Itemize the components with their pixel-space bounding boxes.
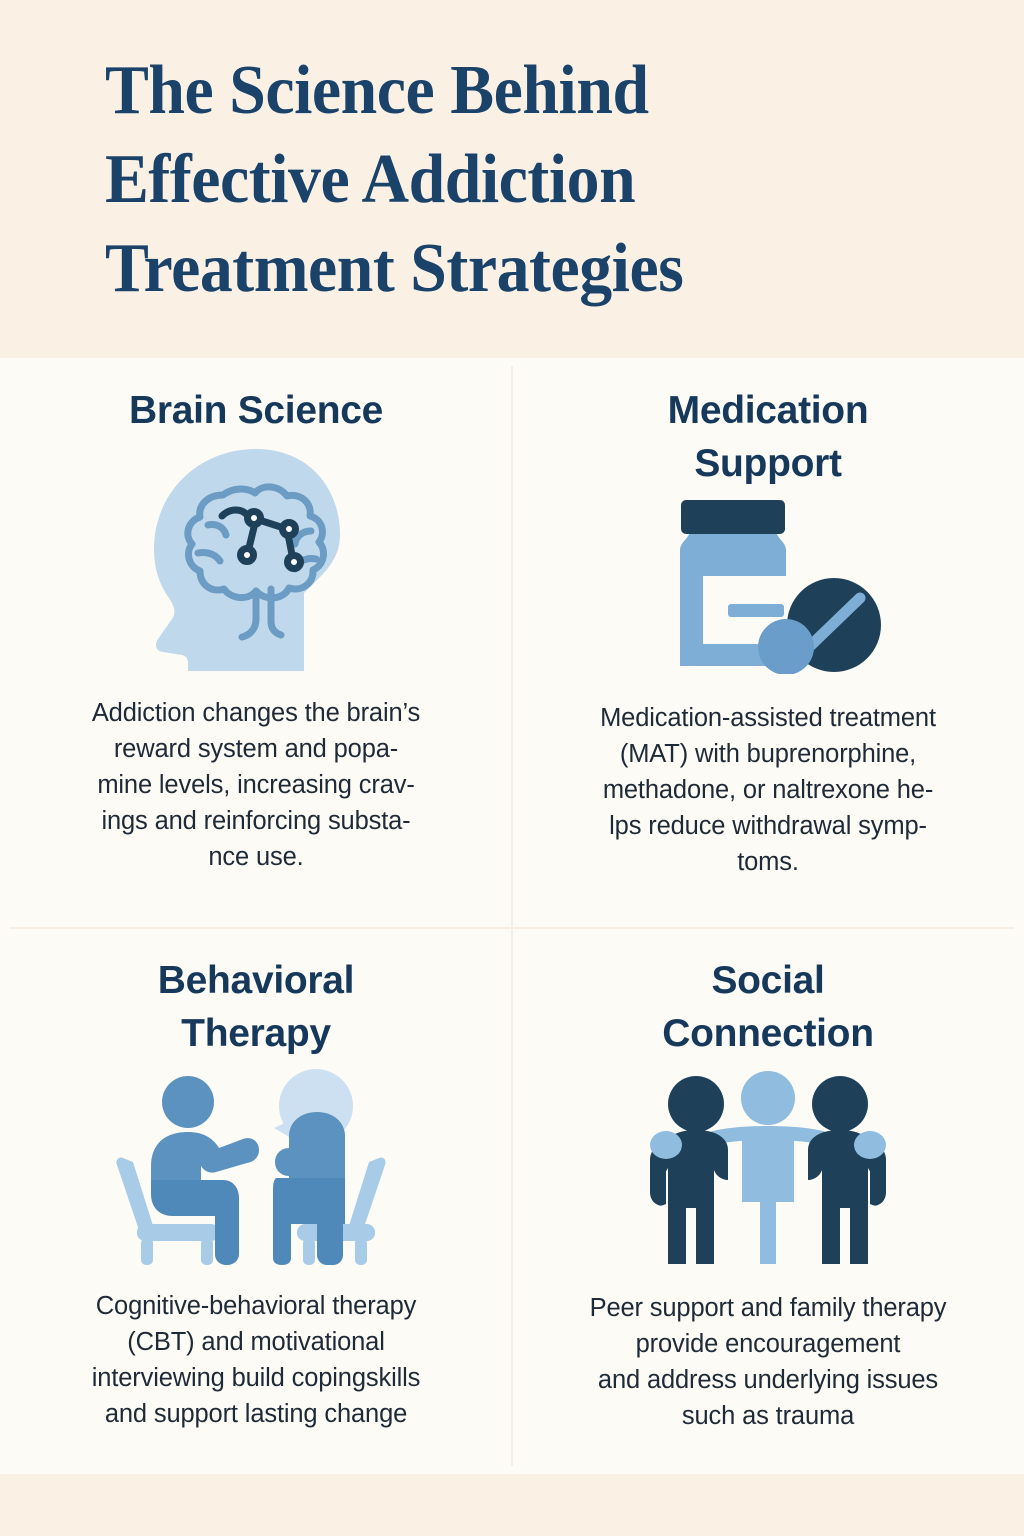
card-title-medication-support: Medication Support [668,384,869,490]
card-body-social-connection: Peer support and family therapy provide … [590,1290,947,1434]
card-behavioral-therapy: Behavioral Therapy [0,928,512,1474]
cards-grid: Brain Science [0,358,1024,1474]
three-people-icon [638,1068,898,1266]
card-brain-science: Brain Science [0,358,512,928]
card-body-medication-support: Medication-assisted treatment (MAT) with… [600,700,936,880]
therapy-session-icon [111,1066,401,1266]
pill-bottle-icon [643,494,893,674]
page-title: The Science Behind Effective Addiction T… [105,46,912,313]
header-band: The Science Behind Effective Addiction T… [0,0,1024,358]
footer-band [0,1474,1024,1536]
card-title-behavioral-therapy: Behavioral Therapy [158,954,354,1060]
infographic-page: The Science Behind Effective Addiction T… [0,0,1024,1536]
card-title-social-connection: Social Connection [662,954,873,1060]
card-body-behavioral-therapy: Cognitive-behavioral therapy (CBT) and m… [92,1288,420,1432]
card-title-brain-science: Brain Science [129,384,383,437]
card-body-brain-science: Addiction changes the brain’s reward sys… [92,695,420,875]
brain-head-icon [136,443,376,673]
card-social-connection: Social Connection [512,928,1024,1474]
card-medication-support: Medication Support [512,358,1024,928]
